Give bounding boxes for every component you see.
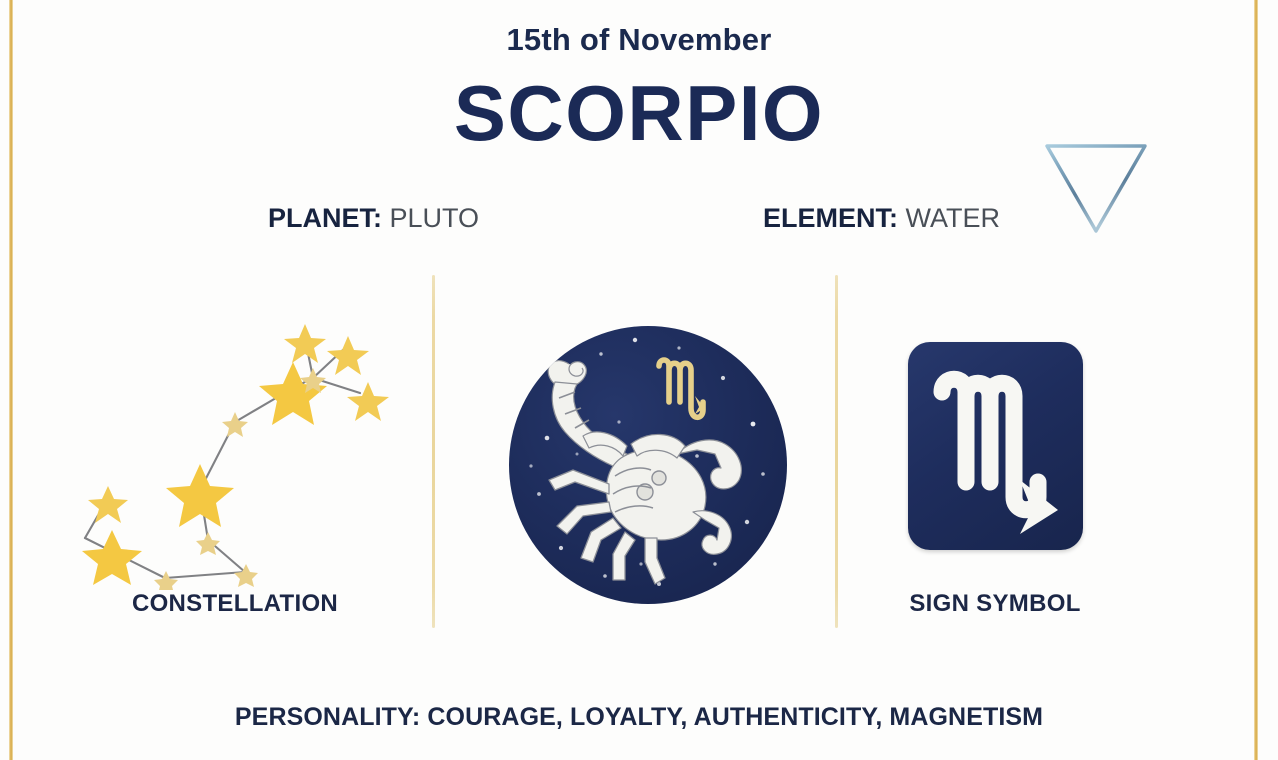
constellation-caption: CONSTELLATION bbox=[60, 590, 410, 618]
water-triangle-icon bbox=[1042, 138, 1150, 238]
panel-divider-right bbox=[835, 275, 838, 628]
element-label: ELEMENT: bbox=[763, 203, 898, 233]
element-attribute: ELEMENT: WATER bbox=[763, 197, 1000, 239]
date-line: 15th of November bbox=[0, 22, 1278, 58]
scorpio-glyph-white-icon bbox=[908, 342, 1083, 550]
element-value: WATER bbox=[906, 203, 1001, 233]
sign-symbol-tile bbox=[908, 342, 1083, 550]
constellation-icon bbox=[60, 300, 410, 590]
scorpion-medallion-icon bbox=[509, 326, 787, 604]
scorpio-infographic: 15th of November SCORPIO PLANET: PLUTO E… bbox=[0, 0, 1278, 760]
planet-value: PLUTO bbox=[390, 203, 480, 233]
scorpio-glyph-gold bbox=[659, 360, 705, 417]
sign-symbol-caption: SIGN SYMBOL bbox=[820, 590, 1170, 618]
personality-line: PERSONALITY: COURAGE, LOYALTY, AUTHENTIC… bbox=[0, 703, 1278, 732]
panel-divider-left bbox=[432, 275, 435, 628]
planet-attribute: PLANET: PLUTO bbox=[268, 197, 479, 239]
planet-label: PLANET: bbox=[268, 203, 382, 233]
